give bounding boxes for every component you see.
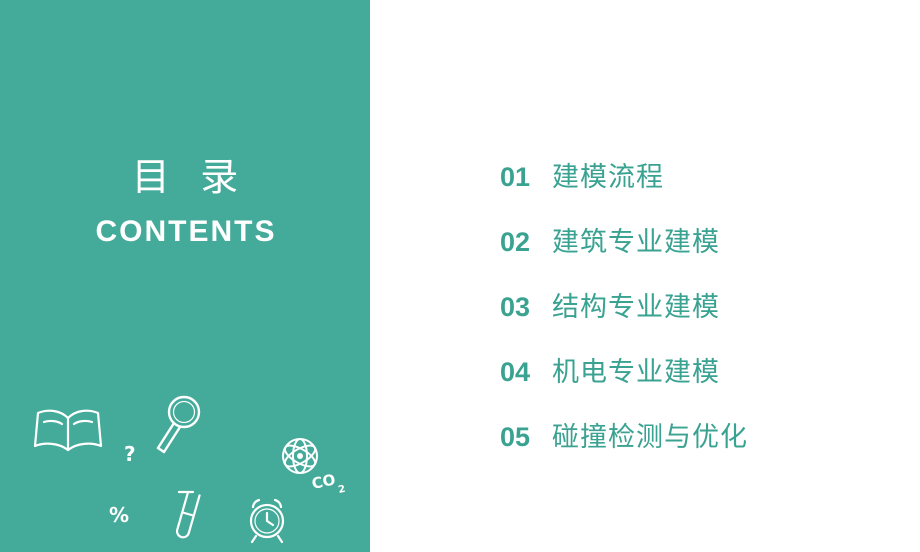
item-number: 04 bbox=[500, 357, 552, 388]
alarm-clock-icon bbox=[240, 492, 294, 546]
question-mark-icon: ? bbox=[122, 440, 142, 468]
page-title-en: CONTENTS bbox=[0, 207, 370, 257]
list-item[interactable]: 02 建筑专业建模 bbox=[500, 220, 900, 285]
svg-text:2: 2 bbox=[337, 484, 346, 496]
item-label: 结构专业建模 bbox=[552, 285, 720, 324]
item-label: 建模流程 bbox=[552, 155, 664, 194]
contents-list: 01 建模流程 02 建筑专业建模 03 结构专业建模 04 机电专业建模 05… bbox=[500, 155, 900, 480]
list-item[interactable]: 04 机电专业建模 bbox=[500, 350, 900, 415]
list-item[interactable]: 01 建模流程 bbox=[500, 155, 900, 220]
page-title-cn: 目 录 bbox=[0, 155, 370, 201]
item-label: 碰撞检测与优化 bbox=[552, 415, 748, 454]
open-book-icon bbox=[32, 404, 104, 456]
item-label: 建筑专业建模 bbox=[552, 220, 720, 259]
magnifier-icon bbox=[152, 392, 210, 458]
title-block: 目 录 CONTENTS bbox=[0, 155, 370, 257]
item-number: 01 bbox=[500, 162, 552, 193]
co2-label-icon: CO 2 bbox=[312, 470, 356, 498]
item-number: 02 bbox=[500, 227, 552, 258]
item-label: 机电专业建模 bbox=[552, 350, 720, 389]
list-item[interactable]: 03 结构专业建模 bbox=[500, 285, 900, 350]
svg-text:?: ? bbox=[124, 442, 136, 466]
svg-text:CO: CO bbox=[312, 470, 337, 493]
test-tube-icon bbox=[166, 488, 208, 544]
svg-text:%: % bbox=[109, 503, 129, 527]
item-number: 05 bbox=[500, 422, 552, 453]
atom-icon bbox=[272, 428, 328, 484]
slide-canvas: 目 录 CONTENTS ? bbox=[0, 0, 920, 552]
left-title-panel: 目 录 CONTENTS ? bbox=[0, 0, 370, 552]
item-number: 03 bbox=[500, 292, 552, 323]
list-item[interactable]: 05 碰撞检测与优化 bbox=[500, 415, 900, 480]
percent-icon: % bbox=[108, 500, 134, 528]
